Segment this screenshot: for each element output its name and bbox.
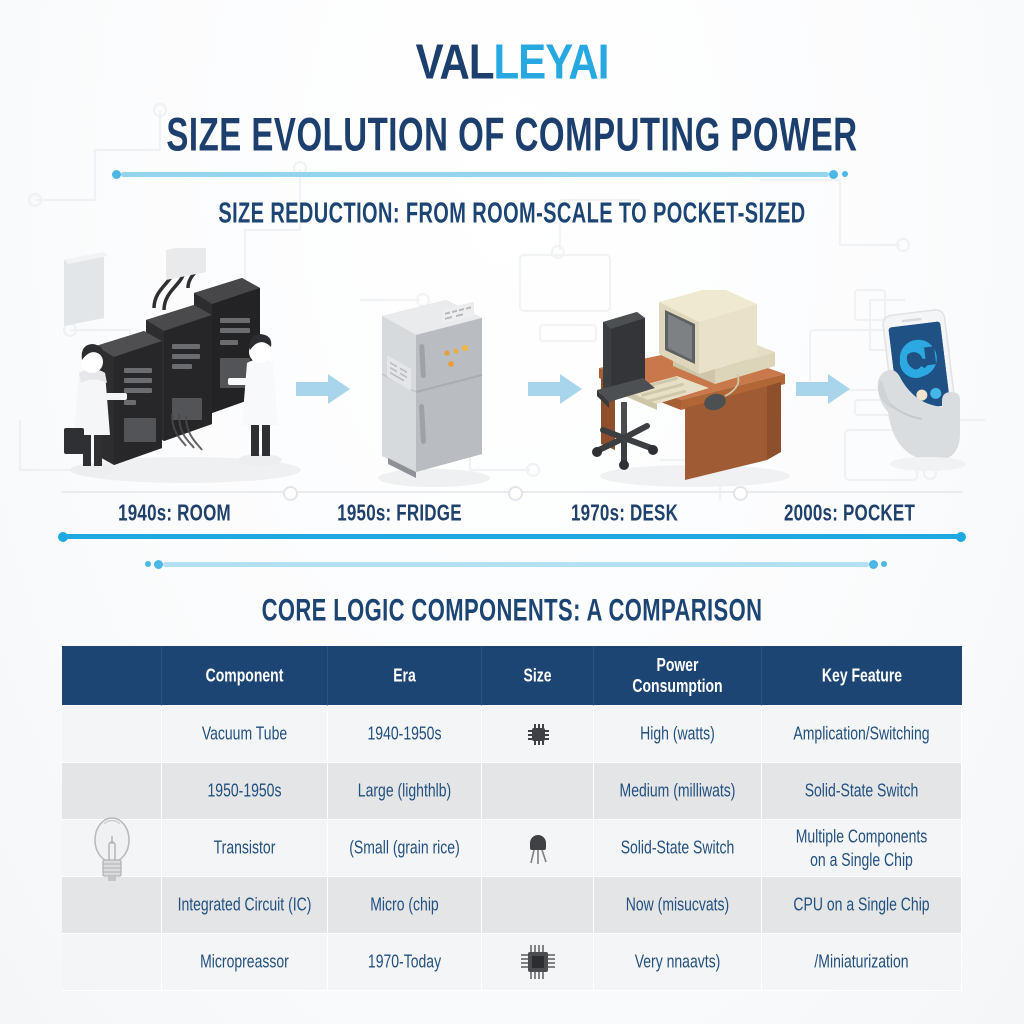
- cell-feature: Solid-State Switch: [762, 763, 962, 820]
- cell-era: (Small (grain rice): [328, 820, 482, 877]
- cell-size: [482, 820, 594, 877]
- cell-era: 1940-1950s: [328, 706, 482, 763]
- ic-chip-icon: [518, 941, 558, 983]
- divider-bar-2: [163, 562, 869, 567]
- cell-size: [482, 706, 594, 763]
- table-header-row: Component Era Size PowerConsumption Key …: [62, 646, 962, 706]
- cell-era: Large (lighthlb): [328, 763, 482, 820]
- divider-cap-left: [112, 170, 121, 179]
- table-header-size: Size: [482, 646, 594, 706]
- table-row: Micropreassor 1970-Today: [62, 934, 962, 991]
- cell-feature: Amplication/Switching: [762, 706, 962, 763]
- fridge-computer-scene: [368, 282, 498, 492]
- smartphone-hand-scene: [862, 300, 1002, 490]
- timeline-node-2: [508, 486, 523, 501]
- infographic-page: VALLEYAI SIZE EVOLUTION OF COMPUTING POW…: [0, 0, 1024, 1024]
- cell-feature: CPU on a Single Chip: [762, 877, 962, 934]
- cell-size: [482, 934, 594, 991]
- cell-feature: /Miniaturization: [762, 934, 962, 991]
- comparison-table: Component Era Size PowerConsumption Key …: [62, 646, 962, 991]
- divider-dot-left-2: [145, 561, 151, 567]
- cell-component: Integrated Circuit (IC): [162, 877, 328, 934]
- divider-bottom: [145, 560, 887, 568]
- table-row: 1950-1950s Large (lighthlb) Medium (mill…: [62, 763, 962, 820]
- table-header-era: Era: [328, 646, 482, 706]
- divider-dot-right-2: [881, 561, 887, 567]
- cell-component: 1950-1950s: [162, 763, 328, 820]
- mainframe-room-scene: [46, 248, 316, 493]
- timeline-node-3: [733, 486, 748, 501]
- brand-logo-part1: VAL: [416, 34, 494, 89]
- divider-cap-right-2: [869, 560, 878, 569]
- table-row: Integrated Circuit (IC) Micro (chip Now …: [62, 877, 962, 934]
- timeline-bar-cap-right: [956, 532, 966, 542]
- cell-power: Solid-State Switch: [594, 820, 762, 877]
- table-header-icon: [62, 646, 162, 706]
- cell-power: Very nnaavts): [594, 934, 762, 991]
- cell-component: Vacuum Tube: [162, 706, 328, 763]
- timeline-labels: 1940s: ROOM 1950s: FRIDGE 1970s: DESK 20…: [62, 500, 962, 530]
- cell-component: Micropreassor: [162, 934, 328, 991]
- arrow-right-icon-2: [528, 372, 584, 406]
- desktop-computer-scene: [585, 290, 800, 490]
- page-title: SIZE EVOLUTION OF COMPUTING POWER: [0, 108, 1024, 162]
- cell-era: 1970-Today: [328, 934, 482, 991]
- arrow-right-icon-1: [296, 372, 352, 406]
- table-header-component: Component: [162, 646, 328, 706]
- table-header-power: PowerConsumption: [594, 646, 762, 706]
- table-header-feature: Key Feature: [762, 646, 962, 706]
- timeline-node-1: [283, 486, 298, 501]
- cell-power: High (watts): [594, 706, 762, 763]
- arrow-right-icon-3: [796, 372, 852, 406]
- chip-icon: [524, 720, 552, 748]
- divider-dot-right: [842, 171, 848, 177]
- table-row: Vacuum Tube 1940-1950s High (watts): [62, 706, 962, 763]
- divider-top: [112, 170, 848, 178]
- cell-size: [482, 763, 594, 820]
- component-icon-column: [62, 706, 162, 991]
- cell-size: [482, 877, 594, 934]
- cell-power: Medium (milliwats): [594, 763, 762, 820]
- cell-power: Now (misucvats): [594, 877, 762, 934]
- lightbulb-icon: [84, 810, 140, 888]
- divider-cap-left-2: [154, 560, 163, 569]
- cell-era: Micro (chip: [328, 877, 482, 934]
- cell-feature: Multiple Componentson a Single Chip: [762, 820, 962, 877]
- brand-logo: VALLEYAI: [0, 38, 1024, 86]
- divider-cap-right: [829, 170, 838, 179]
- transistor-icon: [523, 831, 553, 865]
- timeline-main-bar: [62, 534, 962, 539]
- table-row: Transistor (Small (grain rice) Solid-Sta…: [62, 820, 962, 877]
- cell-component: Transistor: [162, 820, 328, 877]
- table-section-heading: CORE LOGIC COMPONENTS: A COMPARISON: [0, 592, 1024, 629]
- section-subtitle: SIZE REDUCTION: FROM ROOM-SCALE TO POCKE…: [0, 198, 1024, 231]
- timeline-bar-cap-left: [58, 532, 68, 542]
- table-body: Vacuum Tube 1940-1950s High (watts): [62, 706, 962, 991]
- divider-bar: [121, 172, 829, 177]
- brand-logo-part2: LEYAI: [494, 34, 609, 89]
